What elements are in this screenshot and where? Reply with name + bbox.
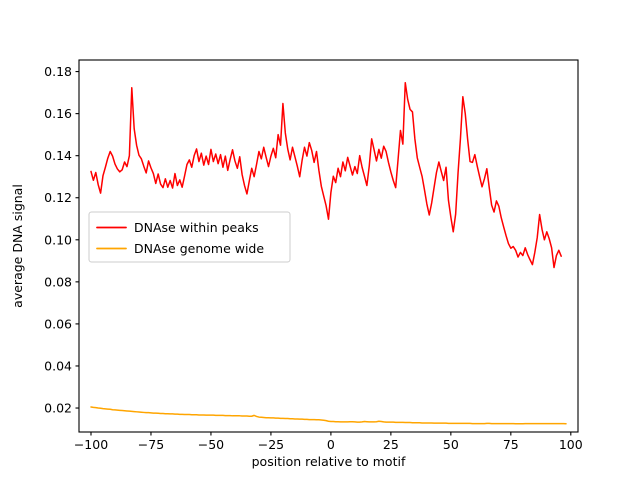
x-tick-label: −100 xyxy=(74,437,108,452)
y-tick-label: 0.02 xyxy=(44,401,72,416)
y-tick-label: 0.14 xyxy=(44,148,72,163)
legend[interactable]: DNAse within peaksDNAse genome wide xyxy=(89,212,290,262)
y-tick-label: 0.06 xyxy=(44,316,72,331)
y-tick-label: 0.18 xyxy=(44,64,72,79)
chart-canvas: −100−75−50−250255075100 0.020.040.060.08… xyxy=(0,0,640,480)
x-tick-label: 25 xyxy=(383,437,399,452)
x-axis-label: position relative to motif xyxy=(252,454,406,469)
x-tick-label: 75 xyxy=(503,437,519,452)
y-tick-label: 0.04 xyxy=(44,358,72,373)
y-tick-label: 0.08 xyxy=(44,274,72,289)
x-tick-label: 0 xyxy=(327,437,335,452)
x-tick-label: −50 xyxy=(198,437,224,452)
y-tick-label: 0.12 xyxy=(44,190,72,205)
x-tick-label: 100 xyxy=(559,437,583,452)
y-tick-label: 0.10 xyxy=(44,232,72,247)
y-tick-label: 0.16 xyxy=(44,106,72,121)
x-tick-label: −75 xyxy=(138,437,164,452)
legend-label-within-peaks: DNAse within peaks xyxy=(134,220,259,235)
legend-label-genome-wide: DNAse genome wide xyxy=(134,241,264,256)
y-axis-label: average DNA signal xyxy=(10,184,25,308)
x-tick-label: −25 xyxy=(258,437,284,452)
matplotlib-figure: −100−75−50−250255075100 0.020.040.060.08… xyxy=(0,0,640,480)
x-tick-label: 50 xyxy=(443,437,459,452)
